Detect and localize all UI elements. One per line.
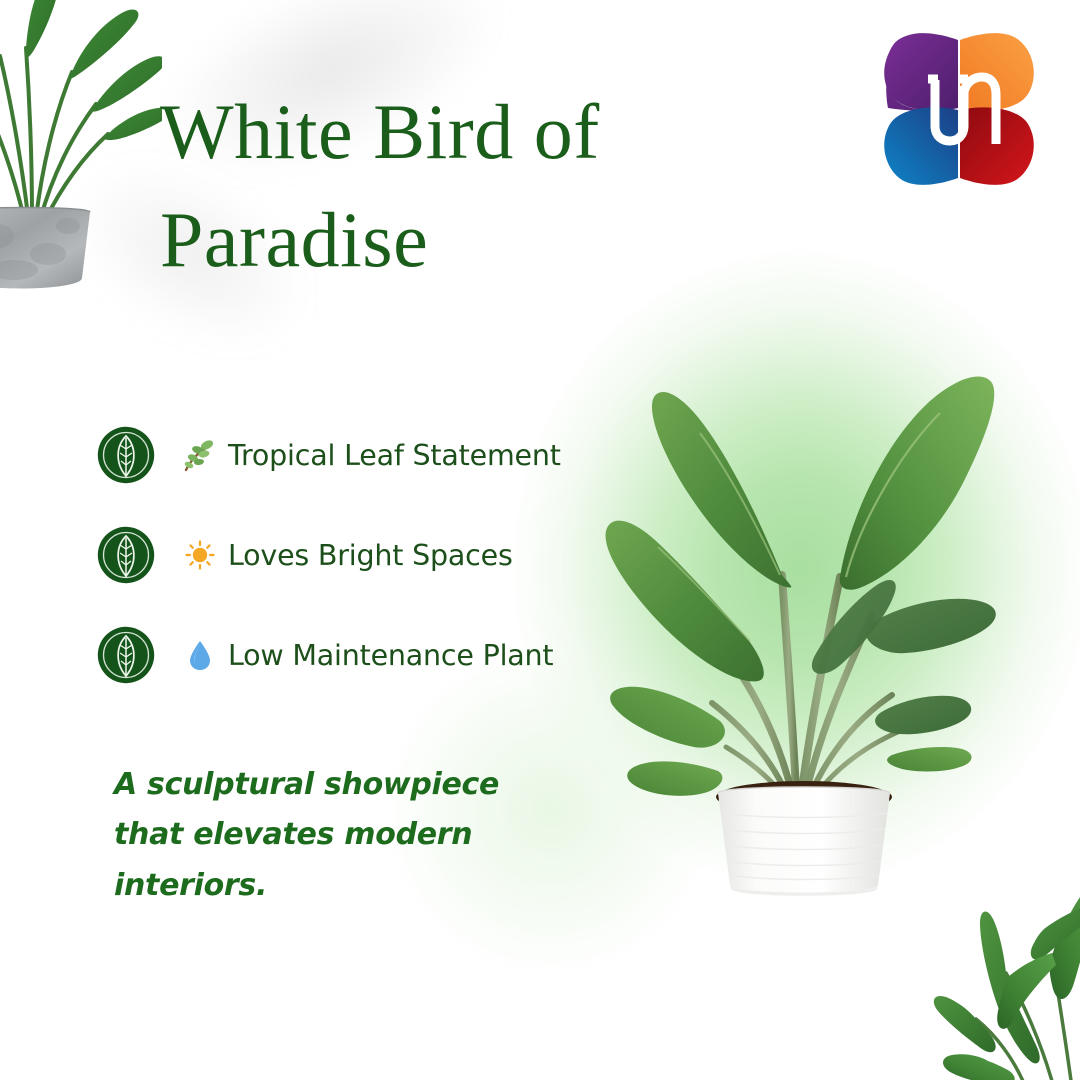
water-droplet-icon xyxy=(180,638,220,672)
feature-list: Tropical Leaf Statement xyxy=(96,405,736,705)
leaf-badge xyxy=(96,425,156,485)
feature-item-loves-bright-spaces: Loves Bright Spaces xyxy=(96,505,736,605)
tagline-line-2: that elevates modern xyxy=(114,810,554,860)
brand-logo[interactable] xyxy=(872,22,1048,194)
decorative-leaves-bottom-right xyxy=(876,873,1080,1080)
feature-label: Loves Bright Spaces xyxy=(228,539,513,572)
leaf-badge xyxy=(96,525,156,585)
tagline: A sculptural showpiece that elevates mod… xyxy=(114,760,554,911)
leaf-badge xyxy=(96,625,156,685)
logo-petal-bottom-left xyxy=(884,107,958,185)
herb-sprig-icon xyxy=(180,438,220,472)
sun-icon xyxy=(180,538,220,572)
feature-label: Low Maintenance Plant xyxy=(228,639,553,672)
page-title: White Bird of Paradise xyxy=(160,78,720,293)
feature-item-tropical-leaf-statement: Tropical Leaf Statement xyxy=(96,405,736,505)
tagline-line-3: interiors. xyxy=(114,861,554,911)
plant-product-card: White Bird of Paradise xyxy=(0,0,1080,1080)
feature-item-low-maintenance-plant: Low Maintenance Plant xyxy=(96,605,736,705)
tagline-line-1: A sculptural showpiece xyxy=(114,760,554,810)
page-title-line-1: White Bird of xyxy=(160,78,720,186)
page-title-line-2: Paradise xyxy=(160,186,720,294)
logo-petal-top-left xyxy=(884,33,958,111)
decorative-plant-top-left xyxy=(0,0,162,306)
leaf-icon xyxy=(96,425,156,485)
feature-label: Tropical Leaf Statement xyxy=(228,439,561,472)
leaf-icon xyxy=(96,525,156,585)
leaf-icon xyxy=(96,625,156,685)
